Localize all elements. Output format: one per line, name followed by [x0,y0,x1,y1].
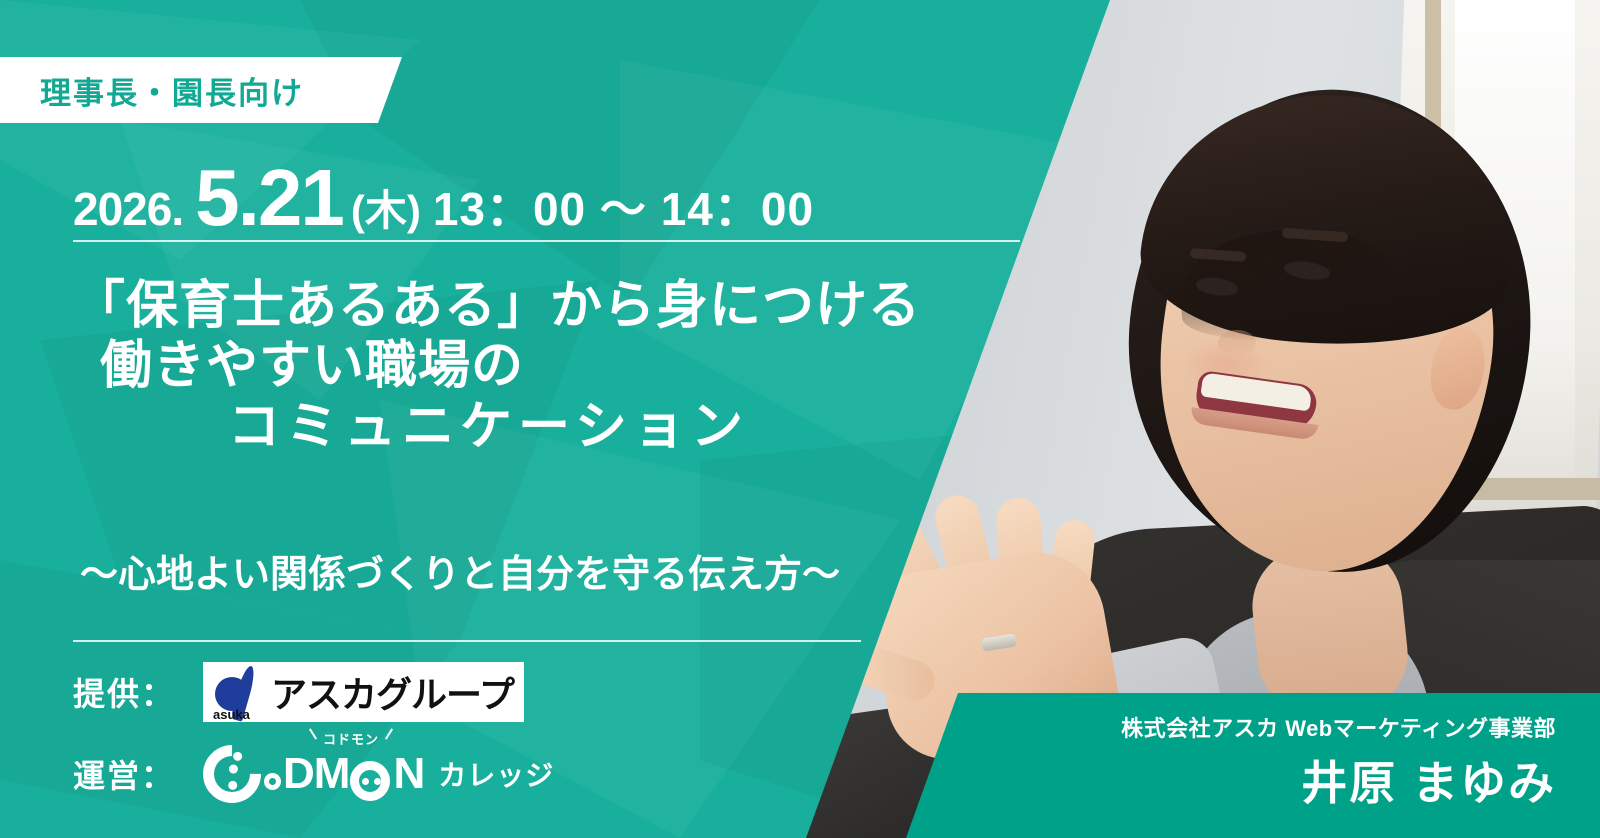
event-subtitle: 〜心地よい関係づくりと自分を守る伝え方〜 [80,543,840,598]
event-datetime: 2026. 5.21 (木) 13：00 〜 14：00 [73,152,814,244]
codmon-eye-icon [362,778,369,785]
codmon-o-face-icon [350,761,390,801]
divider-bottom [73,640,861,642]
codmon-n-text: N [393,749,424,799]
audience-badge: 理事長・園長向け [0,57,402,123]
operator-row: 運営： コドモン DM N カレッジ [73,745,554,803]
codmon-dot-icon [228,781,237,790]
event-time: 13：00 〜 14：00 [433,173,814,239]
codmon-eye-icon [374,778,381,785]
operator-label: 運営： [73,751,203,797]
event-weekday: (木) [351,177,421,238]
audience-badge-label: 理事長・園長向け [40,68,304,113]
codmon-college-text: カレッジ [438,754,554,794]
speaker-band: 株式会社アスカ Webマーケティング事業部 井原 まゆみ [900,693,1600,838]
supplier-label: 提供： [73,669,203,715]
codmon-dm-text: DM [283,749,349,799]
speaker-name: 井原 まゆみ [1301,747,1556,813]
webinar-banner: 理事長・園長向け 2026. 5.21 (木) 13：00 〜 14：00 「保… [0,0,1600,838]
title-line-2: 働きやすい職場の [100,336,921,396]
supplier-row: 提供： asuka アスカグループ [73,662,524,722]
speaker-organization: 株式会社アスカ Webマーケティング事業部 [1121,711,1556,743]
asuka-logo-word: asuka [213,707,250,722]
event-year: 2026. [73,182,183,236]
asuka-mark-icon: asuka [211,663,267,721]
codmon-c-face-icon [191,733,273,815]
divider-top [73,240,1020,242]
codmon-dot-icon [231,750,244,763]
codmon-o-icon [264,773,281,790]
event-title: 「保育士あるある」から身につける 働きやすい職場の コミュニケーション [0,276,921,457]
title-line-3: コミュニケーション [228,397,921,457]
asuka-group-name: アスカグループ [271,666,514,718]
title-line-1: 「保育士あるある」から身につける [73,276,921,336]
codmon-dot-icon [227,763,240,776]
asuka-group-logo: asuka アスカグループ [203,662,524,722]
event-day: 5.21 [195,152,343,244]
codmon-college-logo: コドモン DM N カレッジ [203,745,554,803]
codmon-ruby-text: コドモン [323,729,379,748]
